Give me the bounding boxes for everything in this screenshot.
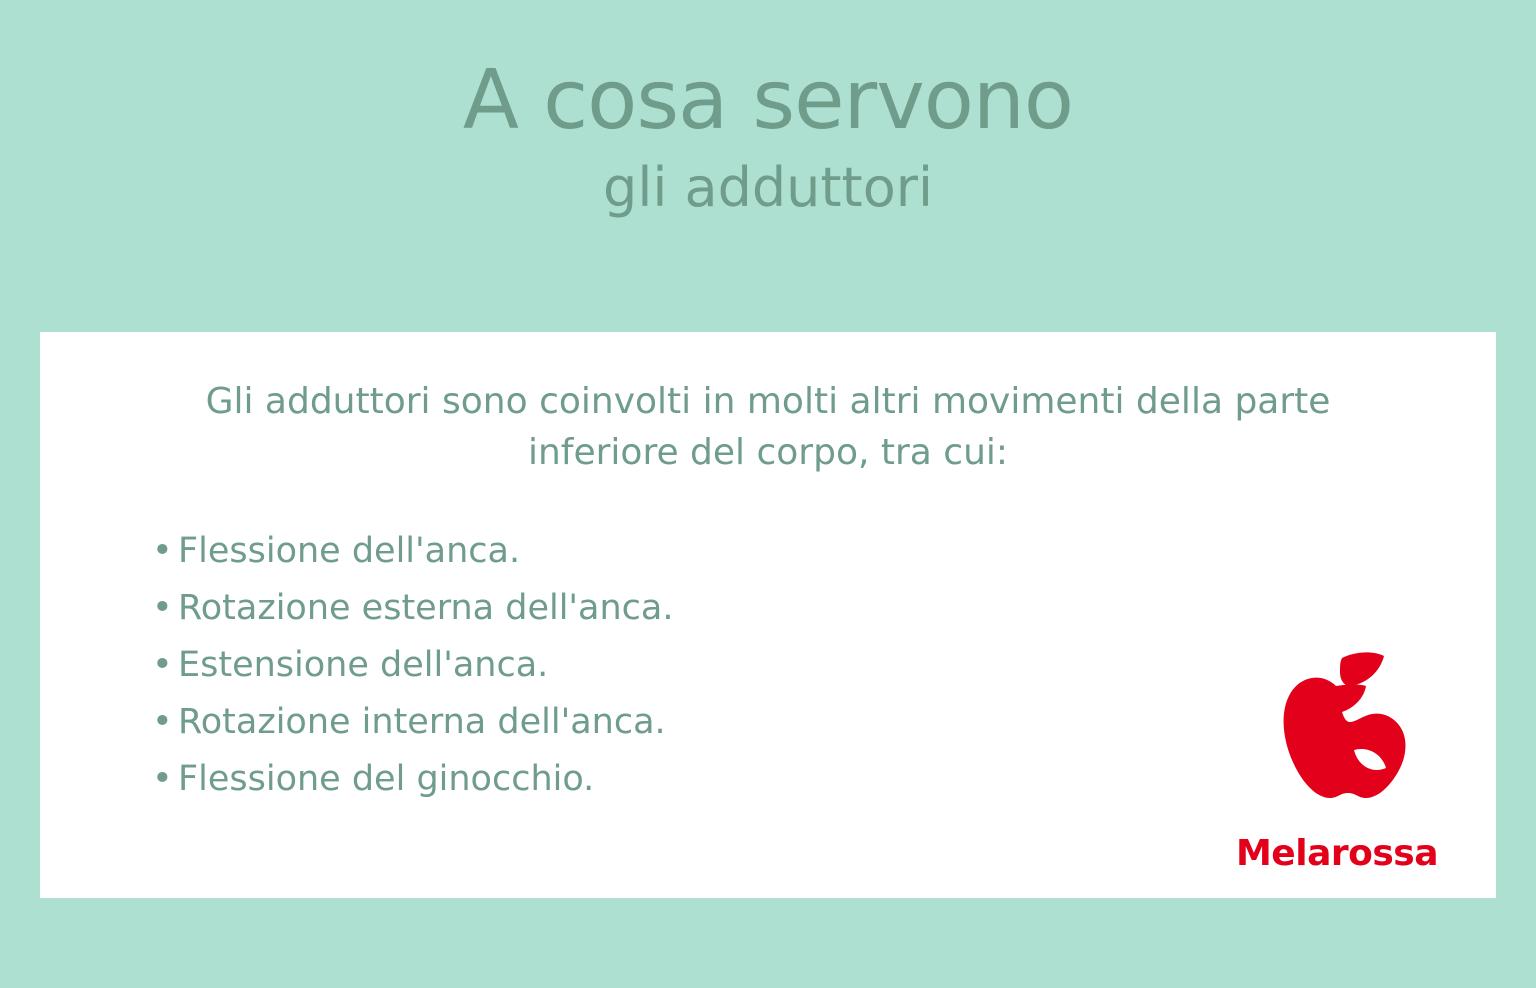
brand-name: Melarossa: [1222, 833, 1452, 874]
list-item: • Flessione dell'anca.: [152, 534, 1496, 569]
list-item-label: Flessione dell'anca.: [178, 534, 520, 569]
bullet-icon: •: [152, 705, 178, 740]
list-item: • Rotazione esterna dell'anca.: [152, 591, 1496, 626]
infographic-root: A cosa servono gli adduttori Gli addutto…: [0, 0, 1536, 988]
bullet-icon: •: [152, 648, 178, 683]
list-item-label: Estensione dell'anca.: [178, 648, 548, 683]
content-card: Gli adduttori sono coinvolti in molti al…: [40, 332, 1496, 898]
header: A cosa servono gli adduttori: [0, 0, 1536, 332]
page-title: A cosa servono: [463, 58, 1073, 144]
intro-text: Gli adduttori sono coinvolti in molti al…: [40, 332, 1496, 478]
bullet-icon: •: [152, 534, 178, 569]
page-subtitle: gli adduttori: [603, 158, 933, 217]
list-item-label: Flessione del ginocchio.: [178, 762, 594, 797]
apple-icon: [1250, 650, 1420, 812]
list-item-label: Rotazione esterna dell'anca.: [178, 591, 674, 626]
bullet-icon: •: [152, 762, 178, 797]
bullet-icon: •: [152, 591, 178, 626]
brand-logo: Melarossa: [1222, 650, 1452, 880]
list-item-label: Rotazione interna dell'anca.: [178, 705, 666, 740]
